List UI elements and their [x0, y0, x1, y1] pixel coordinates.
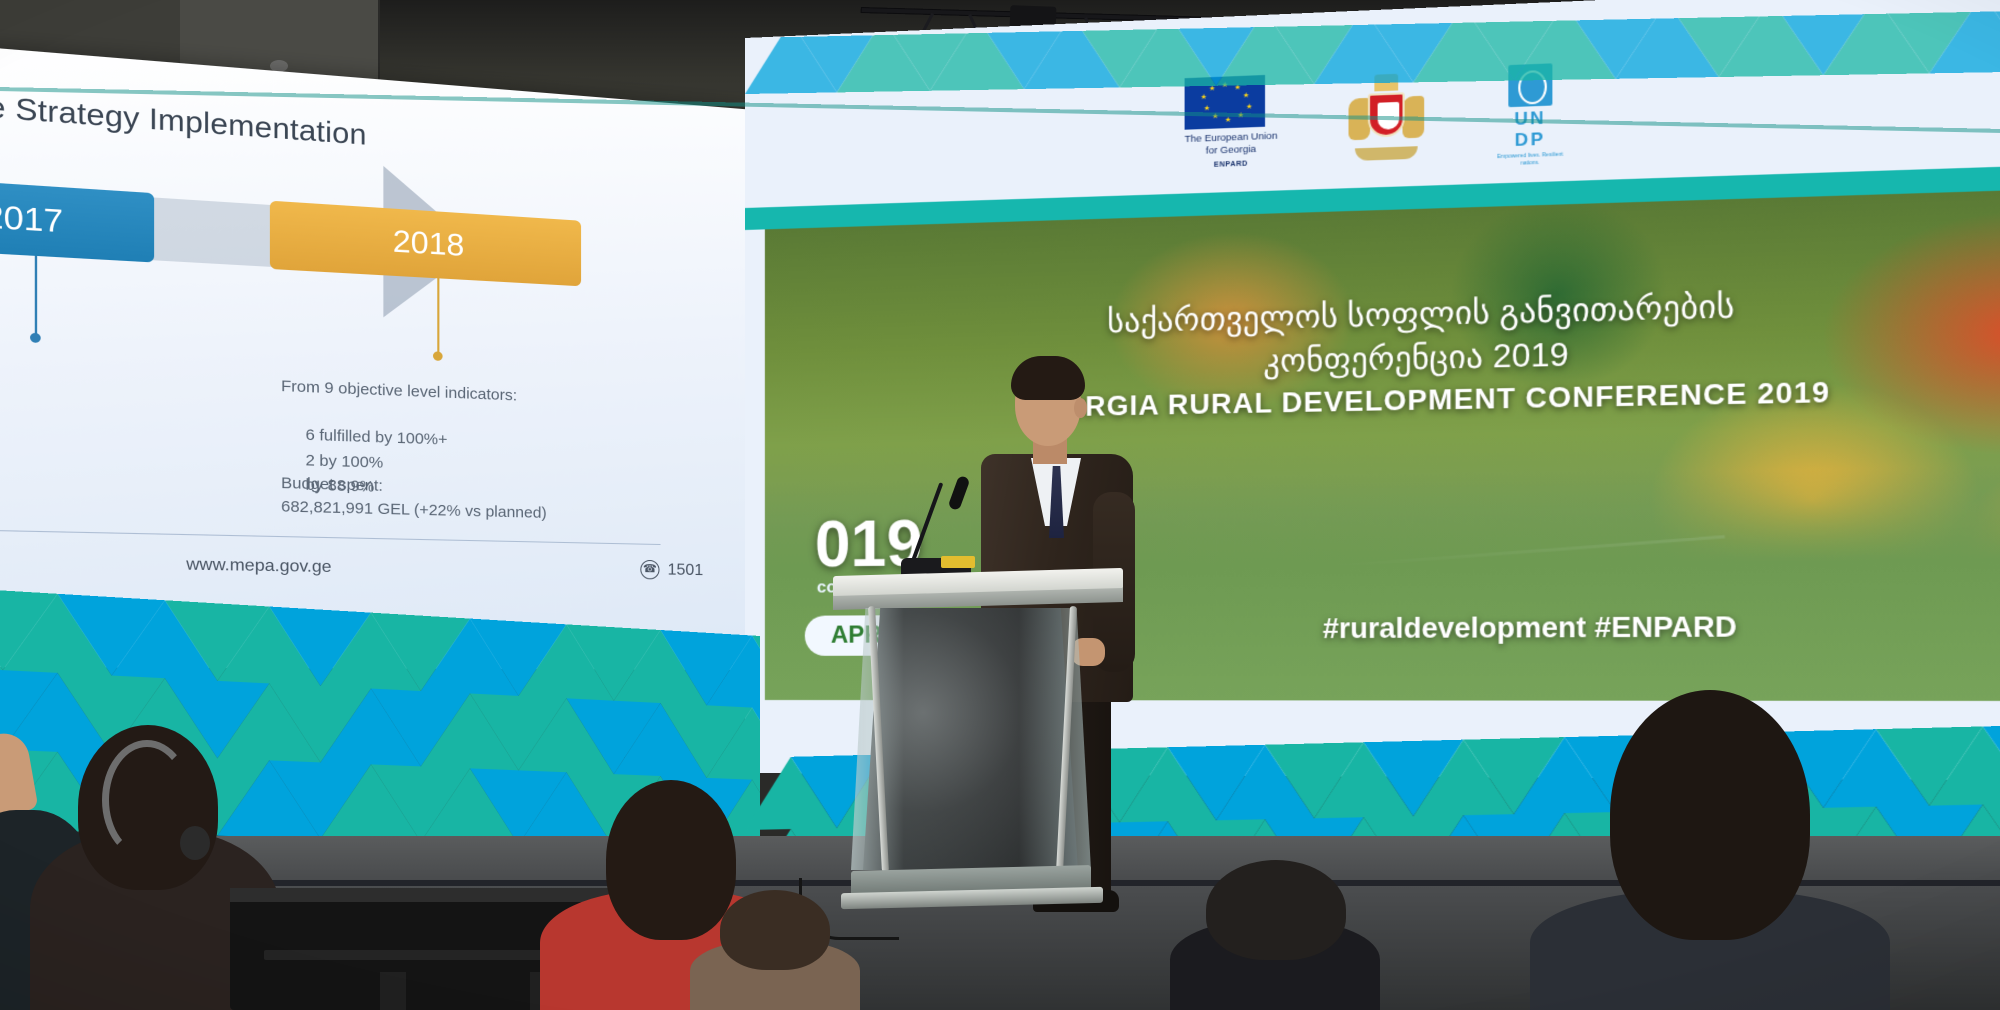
triangle-shape — [752, 636, 760, 713]
right-column-heading: From 9 objective level indicators: — [281, 374, 642, 413]
undp-tagline: Empowered lives. Resilient nations. — [1496, 152, 1564, 169]
eu-caption-line1: The European Union — [1185, 130, 1278, 145]
triangle-shape — [1983, 724, 2000, 805]
left-column-heading: level indicators: — [0, 353, 177, 395]
year-badge-2018: 2018 — [270, 201, 581, 287]
budget-spent-label: Budget spent: — [281, 474, 383, 495]
hotline: ☎ 1501 — [640, 560, 703, 580]
conference-hall-scene: ults of the Strategy Implementation 2017… — [0, 0, 2000, 1010]
eu-caption-line2: for Georgia — [1206, 144, 1256, 157]
year-badge-2017: 2017 — [0, 171, 154, 263]
eu-caption-enpard: ENPARD — [1185, 158, 1278, 171]
undp-letters-dp: DP — [1496, 129, 1564, 149]
podium — [845, 572, 1110, 932]
hotline-number: 1501 — [668, 561, 704, 580]
audience-member-right — [1170, 870, 1380, 1010]
hashtags: #ruraldevelopment #ENPARD — [1323, 611, 1737, 645]
website-url: www.mepa.gov.ge — [186, 556, 331, 578]
presentation-slide-left: ults of the Strategy Implementation 2017… — [0, 41, 755, 670]
pointer-line-left — [35, 256, 37, 335]
triangle-shape — [1983, 8, 2000, 72]
eu-caption: The European Union for Georgia ENPARD — [1185, 130, 1278, 170]
led-wall-left-screen: ults of the Strategy Implementation 2017… — [0, 41, 755, 670]
pointer-dot-right — [433, 351, 443, 361]
headset-earcup-icon — [180, 826, 210, 860]
divider — [0, 527, 661, 545]
pointer-line-right — [437, 278, 439, 353]
phone-icon: ☎ — [640, 560, 659, 580]
podium-badge — [941, 556, 975, 568]
eu-logo: ★ ★ ★ ★ ★ ★ ★ ★ ★ ★ The European Union f… — [1185, 74, 1278, 170]
pointer-dot-left — [30, 333, 41, 343]
audience-member-center — [690, 890, 860, 1010]
headset-icon — [102, 740, 192, 860]
left-indicator-column: level indicators: d by 100% or 100%+; d … — [0, 353, 177, 494]
audience-member-far-right — [1570, 680, 1850, 1010]
